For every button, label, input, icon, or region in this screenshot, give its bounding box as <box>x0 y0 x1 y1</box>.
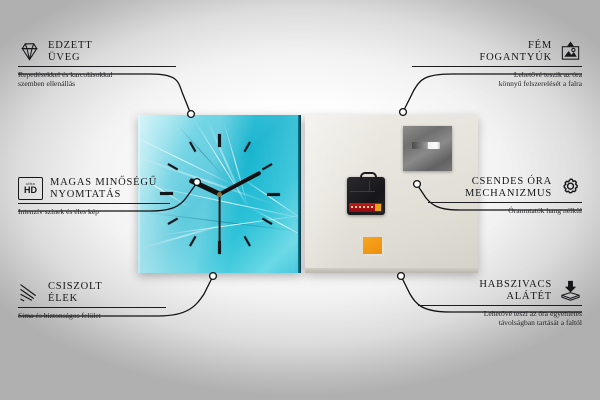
clock-second-hand <box>219 194 221 246</box>
feature-title-line2: NYOMTATÁS <box>50 189 157 201</box>
feature-metal-handles: FÉM FOGANTYÚK Lehetővé teszik az óra kön… <box>412 40 582 88</box>
feature-divider <box>412 66 582 67</box>
feature-subtitle-line1: Repedésekkel és karcolásokkal <box>18 70 176 79</box>
battery-label <box>351 206 375 208</box>
feature-title-line2: ALÁTÉT <box>479 291 552 303</box>
metal-hanger-part <box>403 126 452 171</box>
feature-high-quality-print: ultra HD MAGAS MINŐSÉGŰ NYOMTATÁS Intenz… <box>18 177 170 216</box>
feature-subtitle-line1: Lehetővé teszik az óra <box>412 70 582 79</box>
feature-foam-pad: HABSZIVACS ALÁTÉT Lehetővé teszi az óra … <box>418 279 582 327</box>
feature-silent-mechanism: CSENDES ÓRA MECHANIZMUS Óramutatók hang … <box>428 176 582 215</box>
feature-polished-edges: CSISZOLT ÉLEK Sima és biztonságos felüle… <box>18 281 166 320</box>
feature-subtitle-line1: Óramutatók hang nélkül <box>428 206 582 215</box>
feature-subtitle-line1: Sima és biztonságos felület <box>18 311 166 320</box>
product-image <box>138 115 478 273</box>
infographic-canvas: EDZETT ÜVEG Repedésekkel és karcolásokka… <box>0 0 600 400</box>
feature-tempered-glass: EDZETT ÜVEG Repedésekkel és karcolásokka… <box>18 40 176 88</box>
gear-icon <box>559 176 582 199</box>
feature-subtitle-line1: Intenzív színek és éles kép <box>18 207 170 216</box>
feature-subtitle-line2: szemben ellenállás <box>18 79 176 88</box>
feature-title-line2: FOGANTYÚK <box>479 52 552 64</box>
clock-tick <box>219 134 221 194</box>
feature-title-line2: ÜVEG <box>48 52 92 64</box>
feature-title-line1: FÉM <box>479 40 552 52</box>
feature-title-line1: HABSZIVACS <box>479 279 552 291</box>
mechanism-seam <box>350 191 375 192</box>
feature-subtitle-line2: könnyű felszerelését a falra <box>412 79 582 88</box>
connector-endpoint-edges <box>210 273 217 280</box>
feature-divider <box>428 202 582 203</box>
feature-divider <box>418 305 582 306</box>
feature-divider <box>18 66 176 67</box>
quartz-mechanism-part <box>347 177 385 215</box>
connector-endpoint-foam <box>398 273 405 280</box>
foam-pad-part <box>363 237 382 254</box>
feature-title-line1: EDZETT <box>48 40 92 52</box>
picture-hanger-icon <box>559 40 582 63</box>
badge-main-text: HD <box>24 186 37 195</box>
mechanism-loop <box>360 172 377 181</box>
mechanism-seam-vertical <box>369 181 370 191</box>
feature-subtitle-line1: Lehetővé teszi az óra egyenletes <box>418 309 582 318</box>
foam-pad-icon <box>559 279 582 302</box>
polished-edges-icon <box>18 281 41 304</box>
ultra-hd-badge-icon: ultra HD <box>18 177 43 200</box>
feature-title-line1: CSENDES ÓRA <box>465 176 552 188</box>
feature-title-line1: MAGAS MINŐSÉGŰ <box>50 177 157 189</box>
diamond-icon <box>18 40 41 63</box>
hanger-slot <box>412 142 440 149</box>
clock-center-cap <box>217 192 222 197</box>
clock-tick <box>220 193 280 195</box>
feature-title-line2: MECHANIZMUS <box>465 188 552 200</box>
battery-part <box>349 203 382 212</box>
feature-divider <box>18 307 166 308</box>
feature-subtitle-line2: távolságban tartását a faltól <box>418 318 582 327</box>
back-panel-bottom-edge <box>305 268 478 273</box>
feature-divider <box>18 203 170 204</box>
battery-plus-terminal <box>375 204 381 211</box>
feature-title-line2: ÉLEK <box>48 293 102 305</box>
feature-title-line1: CSISZOLT <box>48 281 102 293</box>
